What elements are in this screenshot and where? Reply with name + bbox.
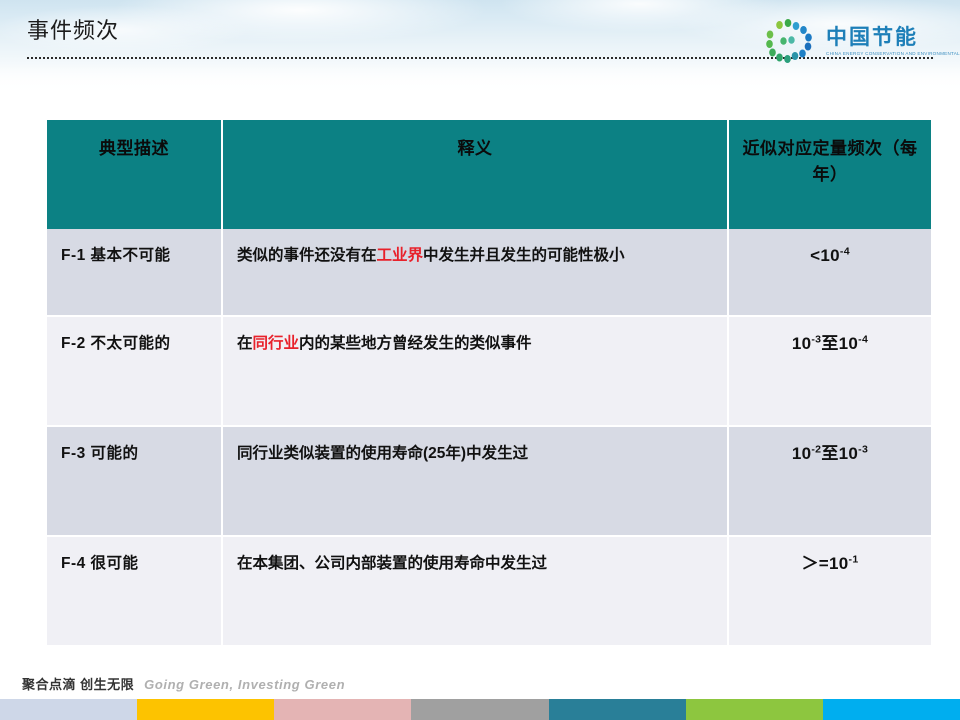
table-header-row: 典型描述 释义 近似对应定量频次（每年） <box>47 120 931 229</box>
desc-pre: 在本集团、公司内部装置的使用寿命中发生过 <box>237 555 547 572</box>
desc-pre: 同行业类似装置的使用寿命(25年)中发生过 <box>237 445 528 462</box>
footer-slogan: 聚合点滴 创生无限 Going Green, Investing Green <box>22 676 345 693</box>
freq-mid: 至10 <box>821 444 858 463</box>
desc-pre: 类似的事件还没有在 <box>237 247 377 264</box>
slide-canvas: 事件频次 中国节能 CHINA <box>0 0 960 720</box>
strip-segment-5 <box>549 699 686 720</box>
cell-code: F-1 基本不可能 <box>47 229 222 316</box>
desc-highlight: 同行业 <box>253 335 300 352</box>
column-header-typical-description: 典型描述 <box>47 120 222 229</box>
cell-code: F-2 不太可能的 <box>47 316 222 426</box>
footer-color-strip <box>0 699 960 720</box>
desc-post: 内的某些地方曾经发生的类似事件 <box>299 335 532 352</box>
column-header-definition: 释义 <box>222 120 728 229</box>
freq-exponent-2: -3 <box>858 443 868 455</box>
freq-exponent: -1 <box>849 553 859 565</box>
cell-description: 类似的事件还没有在工业界中发生并且发生的可能性极小 <box>222 229 728 316</box>
freq-base: ＞=10 <box>801 554 848 573</box>
brand-logo: 中国节能 CHINA ENERGY CONSERVATION AND ENVIR… <box>763 12 944 70</box>
event-frequency-table: 典型描述 释义 近似对应定量频次（每年） F-1 基本不可能 类似的事件还没有在… <box>47 120 931 645</box>
slogan-english: Going Green, Investing Green <box>144 676 345 693</box>
table-row: F-1 基本不可能 类似的事件还没有在工业界中发生并且发生的可能性极小 <10-… <box>47 229 931 316</box>
freq-exponent: -2 <box>811 443 821 455</box>
freq-exponent-2: -4 <box>858 333 868 345</box>
freq-mid: 至10 <box>821 334 858 353</box>
freq-base: 10 <box>792 444 812 463</box>
cell-code: F-4 很可能 <box>47 536 222 645</box>
column-header-quantitative-frequency: 近似对应定量频次（每年） <box>728 120 931 229</box>
table-row: F-4 很可能 在本集团、公司内部装置的使用寿命中发生过 ＞=10-1 <box>47 536 931 645</box>
cell-frequency: 10-2至10-3 <box>728 426 931 536</box>
table-row: F-2 不太可能的 在同行业内的某些地方曾经发生的类似事件 10-3至10-4 <box>47 316 931 426</box>
slogan-chinese: 聚合点滴 创生无限 <box>22 676 134 693</box>
freq-exponent: -3 <box>811 333 821 345</box>
cell-description: 在同行业内的某些地方曾经发生的类似事件 <box>222 316 728 426</box>
table-row: F-3 可能的 同行业类似装置的使用寿命(25年)中发生过 10-2至10-3 <box>47 426 931 536</box>
brand-wordmark: 中国节能 CHINA ENERGY CONSERVATION AND ENVIR… <box>826 26 944 57</box>
strip-segment-7 <box>823 699 960 720</box>
strip-segment-2 <box>137 699 274 720</box>
brand-name-cn: 中国节能 <box>826 26 944 49</box>
cell-frequency: <10-4 <box>728 229 931 316</box>
desc-post: 中发生并且发生的可能性极小 <box>423 247 625 264</box>
cell-description: 同行业类似装置的使用寿命(25年)中发生过 <box>222 426 728 536</box>
brand-name-en: CHINA ENERGY CONSERVATION AND ENVIRONMEN… <box>826 51 944 57</box>
cell-description: 在本集团、公司内部装置的使用寿命中发生过 <box>222 536 728 645</box>
freq-exponent: -4 <box>840 245 850 257</box>
strip-segment-4 <box>411 699 548 720</box>
desc-highlight: 工业界 <box>377 247 424 264</box>
strip-segment-6 <box>686 699 823 720</box>
cell-frequency: ＞=10-1 <box>728 536 931 645</box>
freq-base: 10 <box>792 334 812 353</box>
co2-dots-logo-icon <box>763 18 817 64</box>
freq-base: <10 <box>810 246 840 265</box>
strip-segment-3 <box>274 699 411 720</box>
page-title: 事件频次 <box>27 16 119 46</box>
desc-pre: 在 <box>237 335 253 352</box>
strip-segment-1 <box>0 699 137 720</box>
cell-code: F-3 可能的 <box>47 426 222 536</box>
cell-frequency: 10-3至10-4 <box>728 316 931 426</box>
